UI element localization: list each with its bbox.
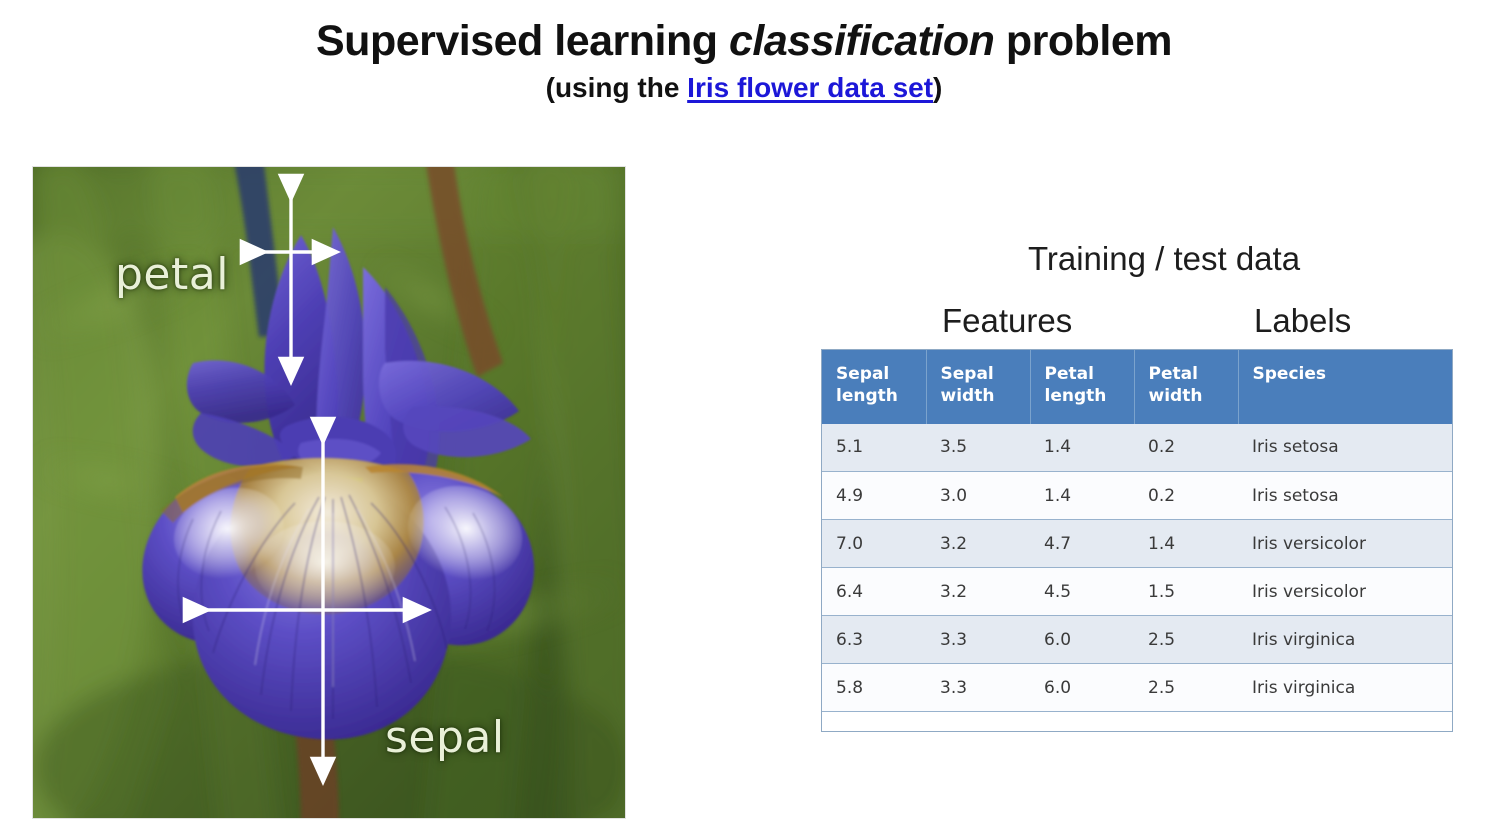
cell-sepal-width: 3.3 [926, 664, 1030, 712]
subtitle-prefix: (using the [546, 72, 688, 103]
header-line-2: width [1149, 386, 1238, 408]
measurement-arrows [33, 167, 625, 818]
table-row: 4.9 3.0 1.4 0.2 Iris setosa [822, 472, 1452, 520]
cell-species: Iris versicolor [1238, 568, 1452, 616]
cell-species: Iris versicolor [1238, 520, 1452, 568]
table-row: 7.0 3.2 4.7 1.4 Iris versicolor [822, 520, 1452, 568]
column-header-petal-width: Petal width [1134, 350, 1238, 424]
cell-species: Iris virginica [1238, 616, 1452, 664]
table-row: 5.1 3.5 1.4 0.2 Iris setosa [822, 424, 1452, 472]
header-line-1: Petal [1045, 364, 1094, 384]
cell-sepal-length: 4.9 [822, 472, 926, 520]
title-part-3: problem [994, 17, 1172, 65]
header-line-1: Species [1253, 364, 1327, 384]
column-header-sepal-width: Sepal width [926, 350, 1030, 424]
header-line-2: length [836, 386, 926, 408]
page-subtitle: (using the Iris flower data set) [0, 71, 1488, 105]
cell-sepal-length: 5.8 [822, 664, 926, 712]
subtitle-suffix: ) [933, 72, 942, 103]
cell-sepal-length: 6.3 [822, 616, 926, 664]
cell-petal-length: 1.4 [1030, 472, 1134, 520]
cell-petal-width: 1.5 [1134, 568, 1238, 616]
cell-petal-length: 4.7 [1030, 520, 1134, 568]
cell-petal-width: 0.2 [1134, 424, 1238, 472]
cell-species: Iris setosa [1238, 424, 1452, 472]
cell-sepal-length: 6.4 [822, 568, 926, 616]
page-title: Supervised learning classification probl… [0, 18, 1488, 64]
header-line-2: length [1045, 386, 1134, 408]
labels-caption: Labels [1254, 302, 1351, 340]
header-line-1: Sepal [836, 364, 889, 384]
iris-dataset-link[interactable]: Iris flower data set [687, 72, 933, 103]
iris-flower-photo: petal sepal [33, 167, 625, 818]
title-emphasis: classification [729, 17, 994, 65]
column-header-species: Species [1238, 350, 1452, 424]
cell-petal-length: 6.0 [1030, 616, 1134, 664]
cell-petal-length: 1.4 [1030, 424, 1134, 472]
table-row: 5.8 3.3 6.0 2.5 Iris virginica [822, 664, 1452, 712]
header-line-1: Petal [1149, 364, 1198, 384]
cell-species: Iris setosa [1238, 472, 1452, 520]
cell-sepal-width: 3.5 [926, 424, 1030, 472]
training-test-data-caption: Training / test data [944, 240, 1384, 278]
column-header-sepal-length: Sepal length [822, 350, 926, 424]
cell-petal-width: 0.2 [1134, 472, 1238, 520]
table-row: 6.4 3.2 4.5 1.5 Iris versicolor [822, 568, 1452, 616]
cell-sepal-width: 3.0 [926, 472, 1030, 520]
cell-petal-width: 1.4 [1134, 520, 1238, 568]
cell-species: Iris virginica [1238, 664, 1452, 712]
cell-sepal-length: 5.1 [822, 424, 926, 472]
cell-sepal-width: 3.2 [926, 520, 1030, 568]
header-line-2: width [941, 386, 1030, 408]
cell-petal-width: 2.5 [1134, 616, 1238, 664]
cell-petal-length: 4.5 [1030, 568, 1134, 616]
cell-sepal-width: 3.2 [926, 568, 1030, 616]
column-header-petal-length: Petal length [1030, 350, 1134, 424]
cell-petal-width: 2.5 [1134, 664, 1238, 712]
header-line-1: Sepal [941, 364, 994, 384]
cell-petal-length: 6.0 [1030, 664, 1134, 712]
cell-sepal-length: 7.0 [822, 520, 926, 568]
iris-data-table: Sepal length Sepal width Petal length Pe… [822, 350, 1452, 712]
cell-sepal-width: 3.3 [926, 616, 1030, 664]
table-row: 6.3 3.3 6.0 2.5 Iris virginica [822, 616, 1452, 664]
features-caption: Features [942, 302, 1072, 340]
title-part-1: Supervised learning [316, 17, 729, 65]
title-block: Supervised learning classification probl… [0, 18, 1488, 105]
table-header-row: Sepal length Sepal width Petal length Pe… [822, 350, 1452, 424]
